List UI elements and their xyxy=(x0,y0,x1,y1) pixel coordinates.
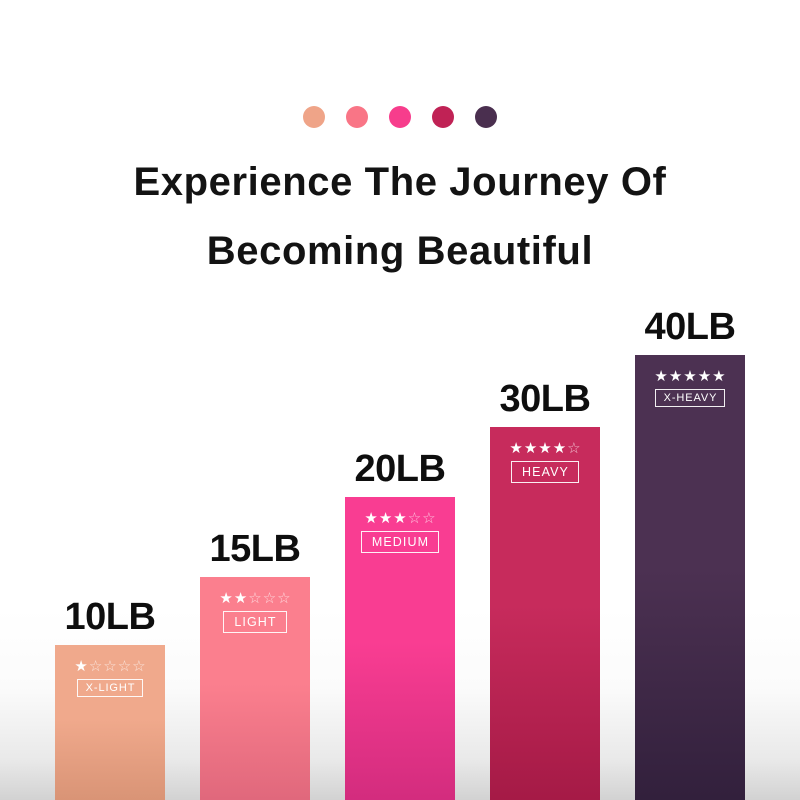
star-empty-icon: ☆ xyxy=(277,591,290,606)
star-empty-icon: ☆ xyxy=(567,441,580,456)
bar-group-40lb: ★★★★★X-HEAVY40LB xyxy=(635,295,745,800)
bar-group-20lb: ★★★☆☆MEDIUM20LB xyxy=(345,437,455,800)
star-filled-icon: ★ xyxy=(538,441,551,456)
star-empty-icon: ☆ xyxy=(89,659,102,674)
star-empty-icon: ☆ xyxy=(408,511,421,526)
star-rating: ★★★☆☆ xyxy=(364,511,435,526)
bar-badge-medium: ★★★☆☆MEDIUM xyxy=(345,511,455,553)
star-filled-icon: ★ xyxy=(219,591,232,606)
star-filled-icon: ★ xyxy=(509,441,522,456)
star-filled-icon: ★ xyxy=(74,659,87,674)
bar-badge-heavy: ★★★★☆HEAVY xyxy=(490,441,600,483)
bar-badge-x-heavy: ★★★★★X-HEAVY xyxy=(635,369,745,407)
weight-label-40lb: 40LB xyxy=(645,306,736,349)
star-filled-icon: ★ xyxy=(524,441,537,456)
star-rating: ★★☆☆☆ xyxy=(219,591,290,606)
star-rating: ★★★★★ xyxy=(654,369,725,384)
weight-label-30lb: 30LB xyxy=(500,378,591,421)
star-rating: ★★★★☆ xyxy=(509,441,580,456)
bar-badge-x-light: ★☆☆☆☆X-LIGHT xyxy=(55,659,165,697)
star-empty-icon: ☆ xyxy=(103,659,116,674)
star-filled-icon: ★ xyxy=(683,369,696,384)
star-empty-icon: ☆ xyxy=(263,591,276,606)
star-empty-icon: ☆ xyxy=(118,659,131,674)
level-label-x-heavy: X-HEAVY xyxy=(655,389,726,407)
bar-group-10lb: ★☆☆☆☆X-LIGHT10LB xyxy=(55,585,165,800)
bar-badge-light: ★★☆☆☆LIGHT xyxy=(200,591,310,633)
star-rating: ★☆☆☆☆ xyxy=(74,659,145,674)
star-filled-icon: ★ xyxy=(393,511,406,526)
resistance-band-infographic: Experience The Journey Of Becoming Beaut… xyxy=(0,0,800,800)
star-filled-icon: ★ xyxy=(379,511,392,526)
resistance-bar-chart: ★☆☆☆☆X-LIGHT10LB★★☆☆☆LIGHT15LB★★★☆☆MEDIU… xyxy=(0,0,800,800)
star-filled-icon: ★ xyxy=(553,441,566,456)
star-filled-icon: ★ xyxy=(712,369,725,384)
level-label-medium: MEDIUM xyxy=(361,531,439,553)
star-empty-icon: ☆ xyxy=(422,511,435,526)
bar-group-15lb: ★★☆☆☆LIGHT15LB xyxy=(200,517,310,800)
star-filled-icon: ★ xyxy=(698,369,711,384)
bar-30lb[interactable]: ★★★★☆HEAVY xyxy=(490,427,600,800)
star-filled-icon: ★ xyxy=(669,369,682,384)
weight-label-15lb: 15LB xyxy=(210,528,301,571)
level-label-x-light: X-LIGHT xyxy=(77,679,144,697)
weight-label-10lb: 10LB xyxy=(65,596,156,639)
bar-40lb[interactable]: ★★★★★X-HEAVY xyxy=(635,355,745,800)
bar-15lb[interactable]: ★★☆☆☆LIGHT xyxy=(200,577,310,800)
star-empty-icon: ☆ xyxy=(248,591,261,606)
star-filled-icon: ★ xyxy=(654,369,667,384)
star-empty-icon: ☆ xyxy=(132,659,145,674)
weight-label-20lb: 20LB xyxy=(355,448,446,491)
star-filled-icon: ★ xyxy=(234,591,247,606)
star-filled-icon: ★ xyxy=(364,511,377,526)
level-label-heavy: HEAVY xyxy=(511,461,579,483)
level-label-light: LIGHT xyxy=(223,611,286,633)
bar-20lb[interactable]: ★★★☆☆MEDIUM xyxy=(345,497,455,800)
bar-10lb[interactable]: ★☆☆☆☆X-LIGHT xyxy=(55,645,165,800)
bar-group-30lb: ★★★★☆HEAVY30LB xyxy=(490,367,600,800)
